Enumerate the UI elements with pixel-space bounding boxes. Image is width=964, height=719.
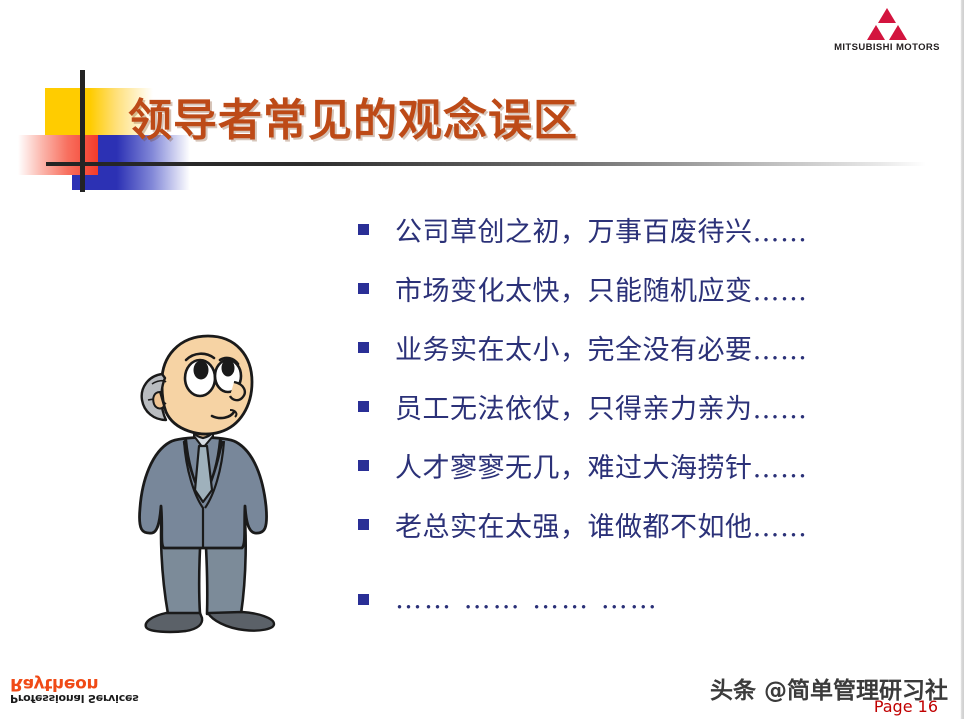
bullet-square-icon — [358, 401, 369, 412]
list-item: 市场变化太快，只能随机应变…… — [358, 259, 918, 318]
bullet-square-icon — [358, 224, 369, 235]
slide-canvas: MITSUBISHI MOTORS 领导者常见的观念误区 — [0, 0, 964, 719]
list-item-label: 老总实在太强，谁做都不如他…… — [395, 505, 808, 544]
list-item-label: …… …… …… …… — [395, 584, 659, 615]
list-item: 老总实在太强，谁做都不如他…… — [358, 495, 918, 554]
list-item-label: 公司草创之初，万事百废待兴…… — [395, 210, 808, 249]
deco-horizontal-line — [46, 162, 926, 166]
list-item: 人才寥寥无几，难过大海捞针…… — [358, 436, 918, 495]
list-item-label: 人才寥寥无几，难过大海捞针…… — [395, 446, 808, 485]
list-item-label: 业务实在太小，完全没有必要…… — [395, 328, 808, 367]
page-number: Page 16 — [874, 697, 938, 716]
slide-title: 领导者常见的观念误区 — [128, 84, 578, 148]
raytheon-brand-name: Raytheon — [10, 674, 190, 692]
bullet-square-icon — [358, 519, 369, 530]
bullet-list: 公司草创之初，万事百废待兴…… 市场变化太快，只能随机应变…… 业务实在太小，完… — [358, 200, 918, 629]
bullet-square-icon — [358, 283, 369, 294]
list-item: 业务实在太小，完全没有必要…… — [358, 318, 918, 377]
list-item: 公司草创之初，万事百废待兴…… — [358, 200, 918, 259]
list-item: …… …… …… …… — [358, 570, 918, 629]
list-item-label: 市场变化太快，只能随机应变…… — [395, 269, 808, 308]
bullet-square-icon — [358, 342, 369, 353]
bullet-square-icon — [358, 460, 369, 471]
raytheon-tagline: Professional Services — [10, 692, 190, 705]
raytheon-footer-logo: Professional Services Raytheon — [10, 674, 190, 707]
bullet-square-icon — [358, 594, 369, 605]
list-item: 员工无法依仗，只得亲力亲为…… — [358, 377, 918, 436]
thinking-businessman-cartoon — [108, 330, 298, 640]
list-item-label: 员工无法依仗，只得亲力亲为…… — [395, 387, 808, 426]
